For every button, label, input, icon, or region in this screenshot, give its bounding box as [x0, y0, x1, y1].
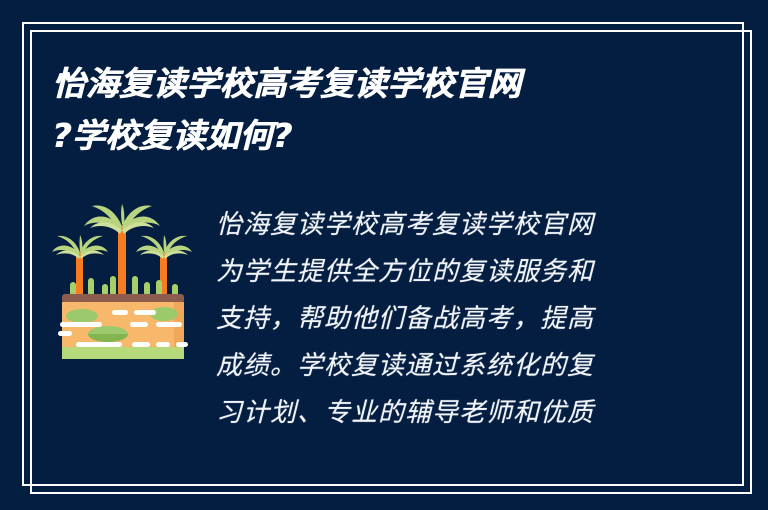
body-line: 支持，帮助他们备战高考，提高 [216, 296, 712, 343]
body-line: 怡海复读学校高考复读学校官网 [216, 202, 712, 249]
content-row: 怡海复读学校高考复读学校官网 为学生提供全方位的复读服务和 支持，帮助他们备战高… [52, 198, 712, 437]
page-title: 怡海复读学校高考复读学校官网 ?学校复读如何? [52, 58, 692, 162]
island-svg [52, 204, 192, 369]
body-paragraph: 怡海复读学校高考复读学校官网 为学生提供全方位的复读服务和 支持，帮助他们备战高… [216, 198, 712, 437]
body-line: 为学生提供全方位的复读服务和 [216, 249, 712, 296]
title-line-1: 怡海复读学校高考复读学校官网 [52, 58, 692, 110]
body-line: 成绩。学校复读通过系统化的复 [216, 343, 712, 390]
title-line-2: ?学校复读如何? [52, 110, 692, 162]
palm-tree-left [52, 235, 108, 296]
frame-mask-right [754, 0, 768, 510]
poster-canvas: 怡海复读学校高考复读学校官网 ?学校复读如何? [0, 0, 768, 510]
body-line: 习计划、专业的辅导老师和优质 [216, 390, 712, 437]
palm-tree-island-illustration [52, 204, 192, 369]
frame-mask-bottom [0, 496, 768, 510]
